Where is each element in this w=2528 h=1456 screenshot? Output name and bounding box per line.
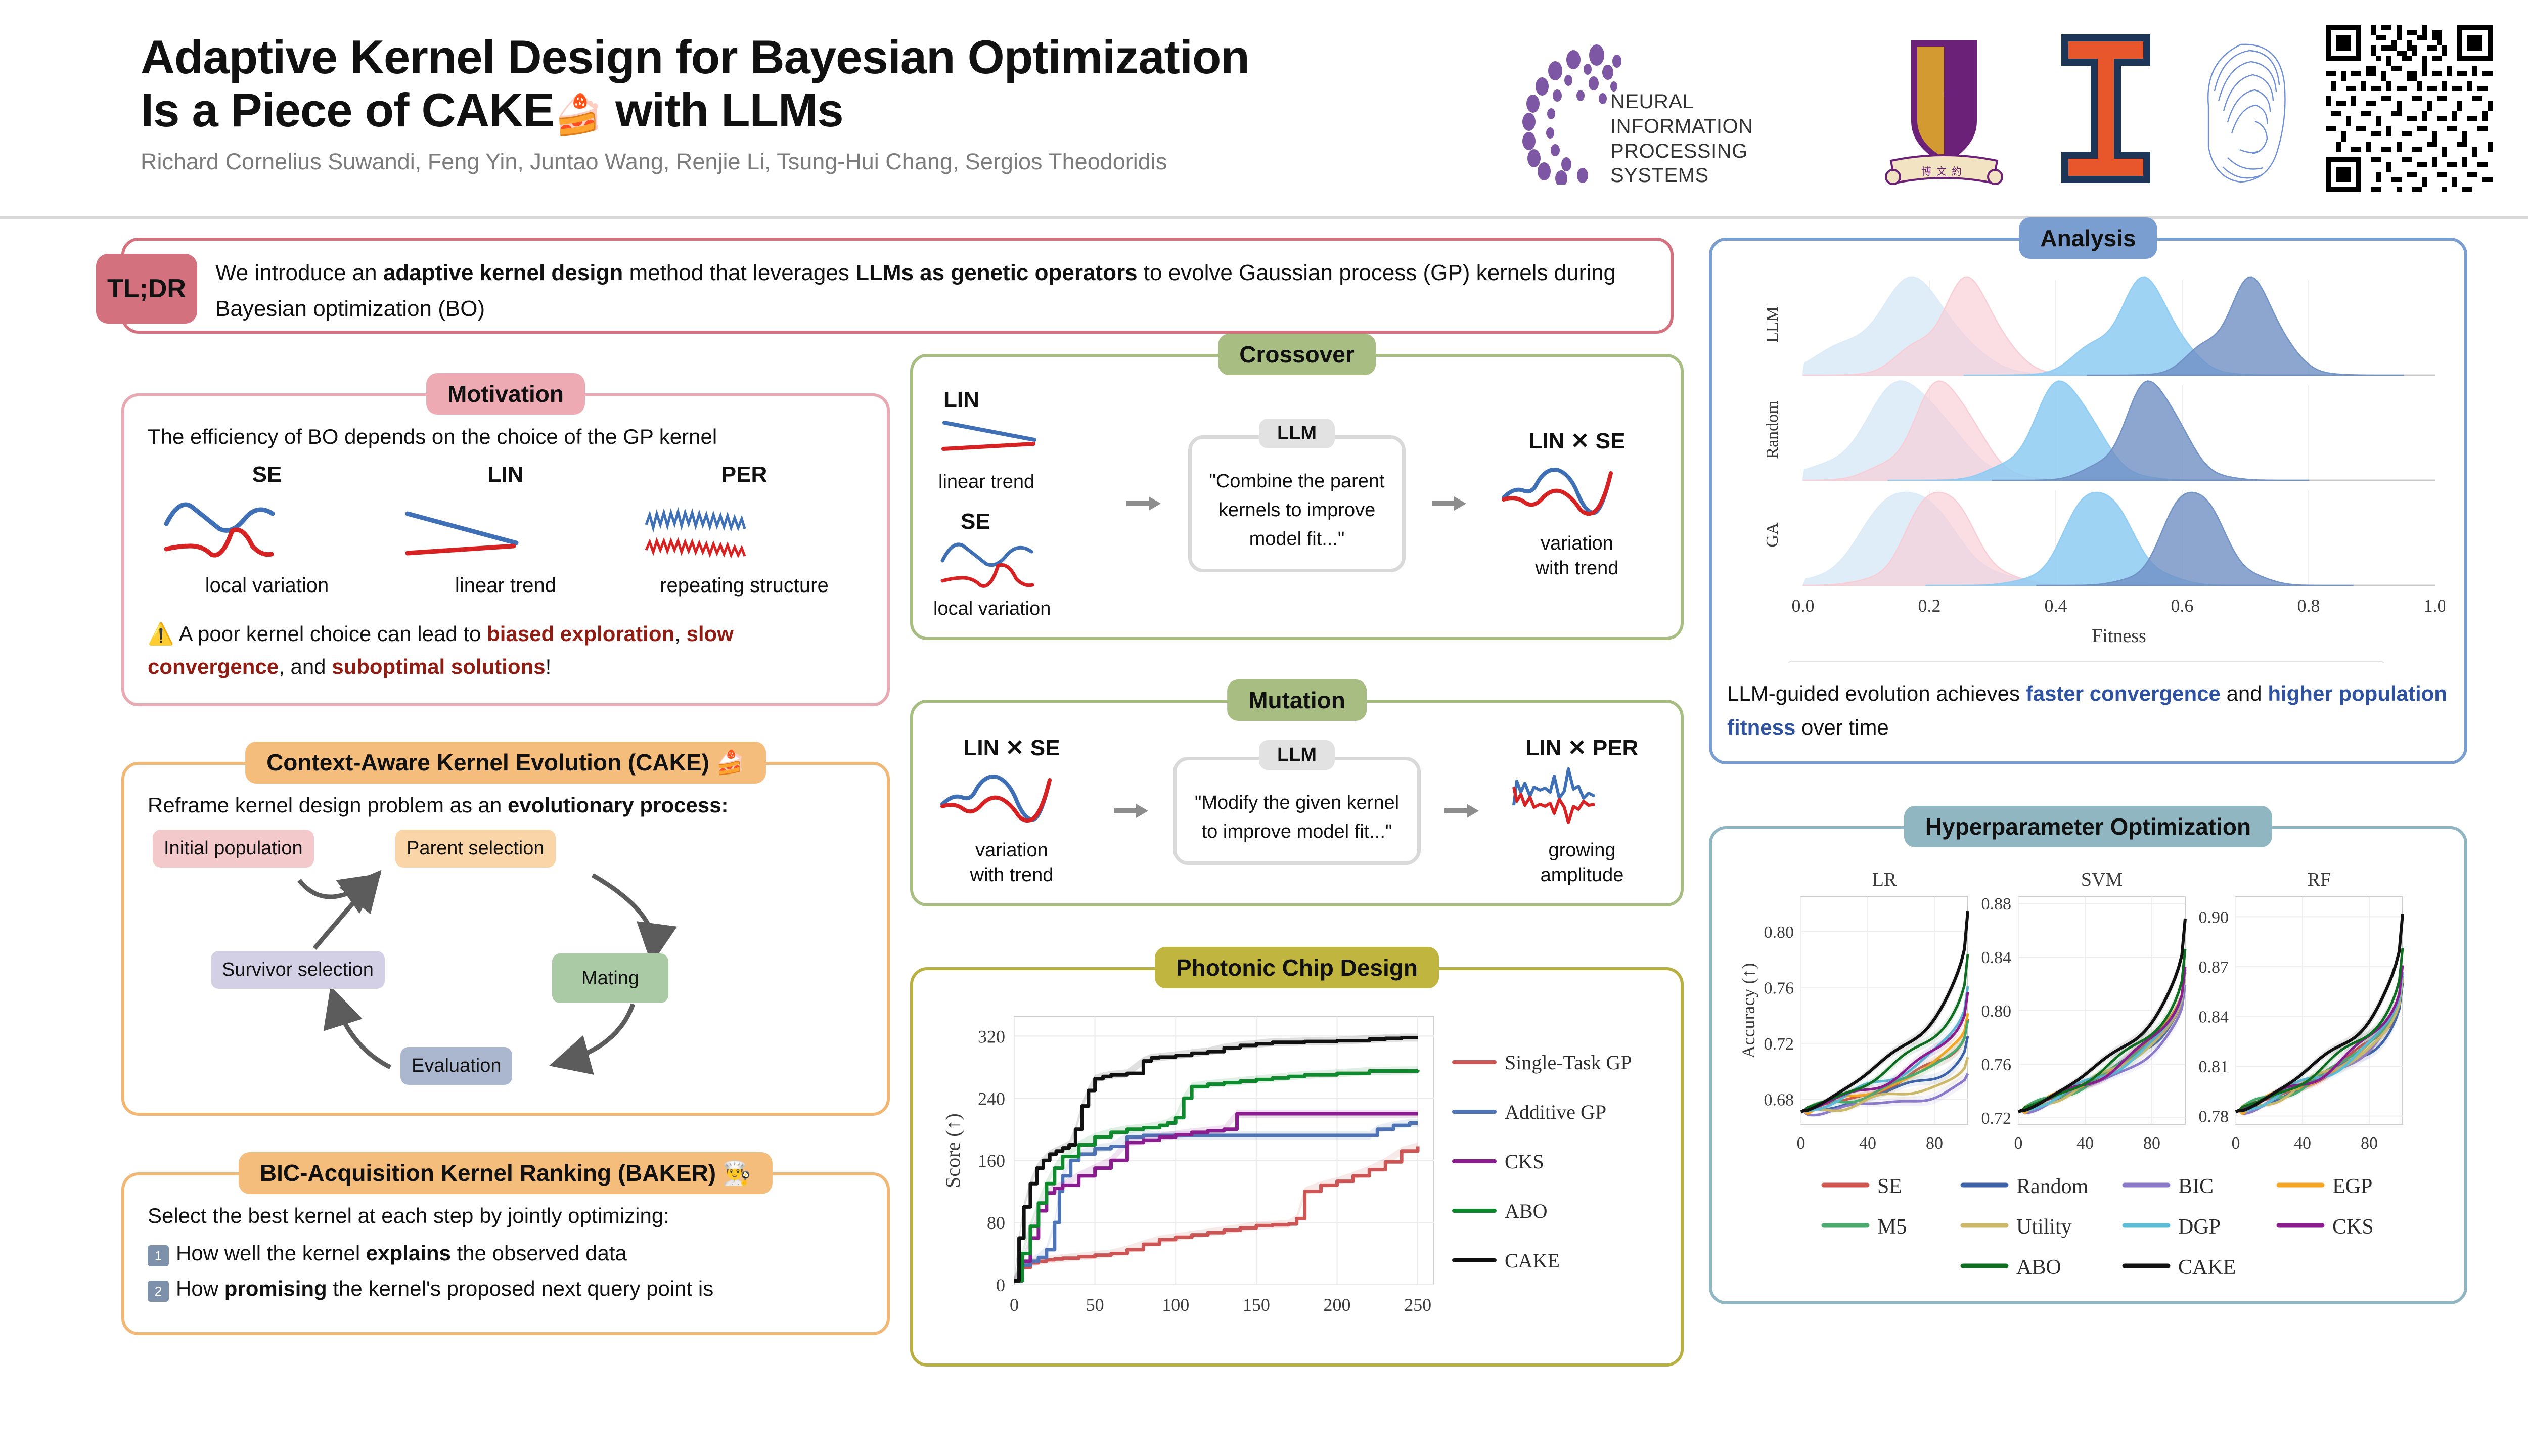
hpo-legend-item: M5 (1824, 1215, 1907, 1239)
svg-text:0.80: 0.80 (1764, 923, 1794, 942)
ridgeline-row-label-llm: LLM (1763, 306, 1782, 343)
crossover-parent-2-sparkline (933, 534, 1065, 595)
mutation-output-caption-1: growing (1504, 840, 1660, 861)
ridgeline-row-label-random: Random (1763, 400, 1782, 459)
svg-text:0.4: 0.4 (2045, 596, 2067, 616)
tldr-text: We introduce an adaptive kernel design m… (215, 255, 1655, 327)
crossover-parent-1-caption: linear trend (933, 471, 1100, 493)
motivation-tab: Motivation (426, 373, 585, 415)
svg-text:CKS: CKS (2332, 1215, 2374, 1239)
svg-text:160: 160 (978, 1151, 1005, 1171)
cake-lead-a: Reframe kernel design problem as an (148, 793, 508, 817)
crossover-child-caption-1: variation (1494, 533, 1660, 555)
hpo-legend-item: Random (1963, 1175, 2089, 1198)
svg-text:240: 240 (978, 1088, 1005, 1109)
university-of-athens-logo (2179, 30, 2306, 192)
kernel-caption-lin: linear trend (395, 574, 617, 597)
kernel-sparkline-se (156, 493, 308, 569)
tldr-badge: TL;DR (96, 254, 197, 324)
svg-text:0: 0 (2014, 1134, 2023, 1153)
svg-text:0.6: 0.6 (2171, 596, 2194, 616)
cycle-node-survivor-selection: Survivor selection (211, 951, 385, 989)
svg-text:0: 0 (996, 1275, 1005, 1295)
crossover-llm-box: LLM "Combine the parent kernels to impro… (1188, 435, 1406, 572)
svg-text:0.88: 0.88 (1981, 895, 2012, 914)
photonic-chip-panel: Photonic Chip Design 0501001502002500801… (910, 967, 1684, 1367)
mutation-input: LIN ✕ SE variation with trend (933, 735, 1090, 886)
mutation-output: LIN ✕ PER growing amplitude (1504, 735, 1660, 886)
svg-text:文: 文 (1936, 166, 1947, 177)
left-column: TL;DR We introduce an adaptive kernel de… (121, 238, 890, 1335)
cycle-node-initial-population: Initial population (153, 830, 314, 868)
svg-text:0.68: 0.68 (1764, 1091, 1794, 1110)
svg-text:0.2: 0.2 (1918, 596, 1941, 616)
kernel-caption-per: repeating structure (634, 574, 855, 597)
crossover-parent-2-label: SE (933, 509, 1100, 534)
motivation-lead: The efficiency of BO depends on the choi… (148, 425, 864, 449)
svg-text:250: 250 (1404, 1295, 1431, 1315)
neurips-wordmark: NEURAL INFORMATION PROCESSING SYSTEMS (1610, 89, 1830, 188)
warning-icon: ⚠️ (148, 622, 179, 646)
neurips-wordmark-line-2: PROCESSING SYSTEMS (1610, 139, 1830, 189)
hpo-legend-item: BIC (2125, 1175, 2214, 1198)
kernel-examples-row: SE local variation LIN linear (148, 462, 864, 597)
svg-text:EGP: EGP (2332, 1175, 2372, 1198)
svg-text:ABO: ABO (1505, 1200, 1547, 1222)
hpo-panel-title-svm: SVM (2081, 869, 2123, 890)
motivation-panel: Motivation The efficiency of BO depends … (121, 393, 890, 706)
photonic-legend-item: Single-Task GP (1454, 1051, 1632, 1074)
photonic-legend-item: CKS (1454, 1150, 1544, 1173)
mutation-arrow-in-icon (1114, 802, 1149, 820)
analysis-ridgeline-chart: LLMRandomGA0.00.20.40.60.81.0FitnessInit… (1727, 264, 2445, 663)
baker-item-1-text: How well the kernel explains the observe… (176, 1241, 627, 1265)
poster-title-line-2: Is a Piece of CAKE🍰 with LLMs (141, 83, 1506, 137)
cake-lead-b: evolutionary process: (508, 793, 728, 817)
cake-lead: Reframe kernel design problem as an evol… (148, 793, 864, 817)
author-list: Richard Cornelius Suwandi, Feng Yin, Jun… (141, 149, 1506, 175)
hyperparameter-tab: Hyperparameter Optimization (1904, 806, 2272, 847)
svg-text:Additive GP: Additive GP (1505, 1101, 1606, 1123)
svg-text:40: 40 (1859, 1134, 1876, 1153)
motivation-warning: ⚠️ A poor kernel choice can lead to bias… (148, 617, 864, 683)
svg-text:0.78: 0.78 (2199, 1108, 2229, 1126)
crossover-child: LIN ✕ SE variation with trend (1494, 428, 1660, 579)
kernel-sparkline-lin (395, 493, 547, 569)
baker-item-1: 1 How well the kernel explains the obser… (148, 1241, 864, 1266)
svg-text:0.90: 0.90 (2199, 908, 2229, 927)
baker-panel: BIC-Acquisition Kernel Ranking (BAKER) 👨… (121, 1172, 890, 1335)
hpo-legend-item: CAKE (2125, 1256, 2236, 1279)
mutation-llm-tab: LLM (1259, 740, 1335, 770)
svg-text:40: 40 (2294, 1134, 2311, 1153)
kernel-name-per: PER (634, 462, 855, 487)
svg-text:0.84: 0.84 (2199, 1008, 2229, 1027)
poster-title-line-2-b: with LLMs (615, 83, 843, 136)
crossover-tab: Crossover (1218, 334, 1376, 375)
svg-text:80: 80 (2143, 1134, 2160, 1153)
svg-text:M5: M5 (1877, 1215, 1907, 1239)
neurips-logo: NEURAL INFORMATION PROCESSING SYSTEMS (1507, 43, 1830, 185)
svg-text:80: 80 (1926, 1134, 1943, 1153)
svg-text:100: 100 (1162, 1295, 1189, 1315)
crossover-parents: LIN linear trend SE local variation (933, 387, 1100, 620)
cake-slice-icon: 🍰 (554, 93, 603, 137)
crossover-arrow-out-icon (1432, 495, 1467, 512)
hpo-legend-item: CKS (2279, 1215, 2374, 1239)
ridgeline-row-label-ga: GA (1763, 522, 1782, 548)
svg-text:1.0: 1.0 (2424, 596, 2446, 616)
mutation-output-caption-2: amplitude (1504, 864, 1660, 886)
svg-text:Single-Task GP: Single-Task GP (1505, 1051, 1632, 1074)
neurips-wordmark-line-1: NEURAL INFORMATION (1610, 89, 1830, 139)
svg-text:CKS: CKS (1505, 1150, 1544, 1173)
tldr-banner: TL;DR We introduce an adaptive kernel de… (121, 238, 1674, 334)
photonic-chip-tab: Photonic Chip Design (1155, 947, 1439, 988)
svg-text:Accuracy (↑): Accuracy (↑) (1738, 963, 1758, 1059)
crossover-parent-2-caption: local variation (933, 598, 1100, 620)
kernel-example-lin: LIN linear trend (395, 462, 617, 597)
middle-column: Crossover LIN linear trend SE (910, 354, 1684, 1367)
svg-text:0: 0 (1010, 1295, 1019, 1315)
svg-text:0.76: 0.76 (1764, 979, 1794, 998)
mutation-input-caption-1: variation (933, 840, 1090, 861)
svg-text:SE: SE (1877, 1175, 1902, 1198)
qr-code[interactable] (2326, 25, 2493, 192)
mutation-tab: Mutation (1227, 679, 1367, 721)
kernel-name-lin: LIN (395, 462, 617, 487)
hpo-panel-title-rf: RF (2308, 869, 2331, 890)
crossover-child-caption-2: with trend (1494, 558, 1660, 579)
svg-text:博: 博 (1921, 166, 1931, 177)
kernel-sparkline-per (634, 493, 785, 569)
mutation-arrow-out-icon (1444, 802, 1480, 820)
mutation-input-sparkline (933, 761, 1075, 837)
analysis-note: LLM-guided evolution achieves faster con… (1727, 676, 2449, 744)
hpo-legend-item: Utility (1963, 1215, 2072, 1239)
crossover-child-sparkline (1494, 454, 1640, 530)
hyperparameter-chart: LR040800.680.720.760.80SVM040800.720.760… (1725, 861, 2443, 1286)
hyperparameter-panel: Hyperparameter Optimization LR040800.680… (1709, 826, 2467, 1304)
svg-text:0.87: 0.87 (2199, 958, 2229, 977)
kernel-caption-se: local variation (156, 574, 378, 597)
svg-text:BIC: BIC (2178, 1175, 2214, 1198)
kernel-example-se: SE local variation (156, 462, 378, 597)
baker-item-2-text: How promising the kernel's proposed next… (176, 1277, 713, 1301)
svg-text:CAKE: CAKE (1505, 1249, 1560, 1272)
mutation-input-label: LIN ✕ SE (933, 735, 1090, 761)
right-column: Analysis LLMRandomGA0.00.20.40.60.81.0Fi… (1709, 238, 2467, 1304)
svg-text:80: 80 (2361, 1134, 2378, 1153)
kernel-name-se: SE (156, 462, 378, 487)
svg-text:CAKE: CAKE (2178, 1256, 2236, 1279)
title-block: Adaptive Kernel Design for Bayesian Opti… (141, 30, 1506, 175)
svg-text:DGP: DGP (2178, 1215, 2221, 1239)
mutation-output-sparkline (1504, 761, 1645, 837)
mutation-input-caption-2: with trend (933, 864, 1090, 886)
svg-text:約: 約 (1952, 166, 1962, 177)
svg-text:Score (↑): Score (↑) (941, 1113, 964, 1188)
svg-text:40: 40 (2076, 1134, 2094, 1153)
svg-text:50: 50 (1086, 1295, 1104, 1315)
svg-text:320: 320 (978, 1026, 1005, 1046)
svg-text:0.8: 0.8 (2297, 596, 2320, 616)
crossover-arrow-in-icon (1126, 495, 1162, 512)
svg-text:Random: Random (2016, 1175, 2089, 1198)
poster-header: Adaptive Kernel Design for Bayesian Opti… (0, 0, 2528, 217)
cuhk-shenzhen-crest-logo: 博文約 (1861, 25, 2027, 192)
crossover-child-label: LIN ✕ SE (1494, 428, 1660, 454)
hpo-legend-item: ABO (1963, 1256, 2061, 1279)
illinois-block-i-logo (2050, 30, 2161, 187)
crossover-flow: LIN linear trend SE local variation (933, 387, 1660, 620)
svg-text:Fitness: Fitness (2092, 625, 2146, 647)
analysis-tab: Analysis (2019, 217, 2157, 259)
photonic-chip-chart: 050100150200250080160240320Score (↑)Sing… (928, 1002, 1636, 1350)
hpo-legend-item: SE (1824, 1175, 1902, 1198)
svg-text:0.0: 0.0 (1792, 596, 1815, 616)
crossover-parent-1-label: LIN (933, 387, 1100, 413)
svg-text:0.76: 0.76 (1981, 1056, 2012, 1074)
svg-text:0: 0 (2232, 1134, 2240, 1153)
mutation-output-label: LIN ✕ PER (1504, 735, 1660, 761)
hpo-legend-item: EGP (2279, 1175, 2372, 1198)
svg-text:ABO: ABO (2016, 1256, 2061, 1279)
photonic-legend-item: CAKE (1454, 1249, 1560, 1272)
poster-root: Adaptive Kernel Design for Bayesian Opti… (0, 0, 2528, 1456)
number-badge-2-icon: 2 (148, 1281, 169, 1302)
poster-title-line-2-a: Is a Piece of CAKE (141, 83, 554, 136)
svg-text:0.80: 0.80 (1981, 1002, 2012, 1021)
cycle-node-mating: Mating (552, 953, 668, 1003)
hpo-panel-title-lr: LR (1872, 869, 1897, 890)
cake-panel: Context-Aware Kernel Evolution (CAKE) 🍰 … (121, 762, 890, 1116)
evolutionary-cycle-diagram: Initial population Parent selection Mati… (148, 825, 864, 1093)
photonic-legend-item: Additive GP (1454, 1101, 1606, 1123)
svg-text:200: 200 (1323, 1295, 1350, 1315)
svg-text:150: 150 (1243, 1295, 1270, 1315)
crossover-llm-tab: LLM (1259, 419, 1335, 448)
analysis-panel: Analysis LLMRandomGA0.00.20.40.60.81.0Fi… (1709, 238, 2467, 764)
number-badge-1-icon: 1 (148, 1245, 169, 1266)
photonic-legend-item: ABO (1454, 1200, 1547, 1222)
baker-item-2: 2 How promising the kernel's proposed ne… (148, 1277, 864, 1302)
mutation-flow: LIN ✕ SE variation with trend LLM "Mo (933, 735, 1660, 886)
mutation-llm-box: LLM "Modify the given kernel to improve … (1173, 757, 1421, 865)
svg-text:0.72: 0.72 (1981, 1109, 2012, 1128)
cycle-node-parent-selection: Parent selection (395, 830, 556, 868)
hpo-legend-item: DGP (2125, 1215, 2221, 1239)
crossover-panel: Crossover LIN linear trend SE (910, 354, 1684, 640)
svg-text:Utility: Utility (2016, 1215, 2072, 1239)
crossover-llm-prompt: "Combine the parent kernels to improve m… (1205, 467, 1389, 554)
mutation-llm-prompt: "Modify the given kernel to improve mode… (1190, 789, 1404, 846)
svg-text:0.72: 0.72 (1764, 1035, 1794, 1054)
svg-text:0.84: 0.84 (1981, 948, 2012, 967)
logo-strip: NEURAL INFORMATION PROCESSING SYSTEMS 博文… (1507, 20, 2528, 197)
mutation-panel: Mutation LIN ✕ SE variation with trend (910, 700, 1684, 906)
cake-tab: Context-Aware Kernel Evolution (CAKE) 🍰 (245, 742, 766, 784)
kernel-example-per: PER repeating structure (634, 462, 855, 597)
baker-lead: Select the best kernel at each step by j… (148, 1204, 864, 1228)
svg-text:0: 0 (1797, 1134, 1805, 1153)
cycle-node-evaluation: Evaluation (400, 1047, 512, 1085)
crossover-parent-1-sparkline (933, 413, 1065, 468)
baker-tab: BIC-Acquisition Kernel Ranking (BAKER) 👨… (239, 1152, 773, 1194)
svg-text:0.81: 0.81 (2199, 1058, 2229, 1076)
poster-title-line-1: Adaptive Kernel Design for Bayesian Opti… (141, 30, 1506, 83)
svg-text:80: 80 (987, 1213, 1005, 1233)
